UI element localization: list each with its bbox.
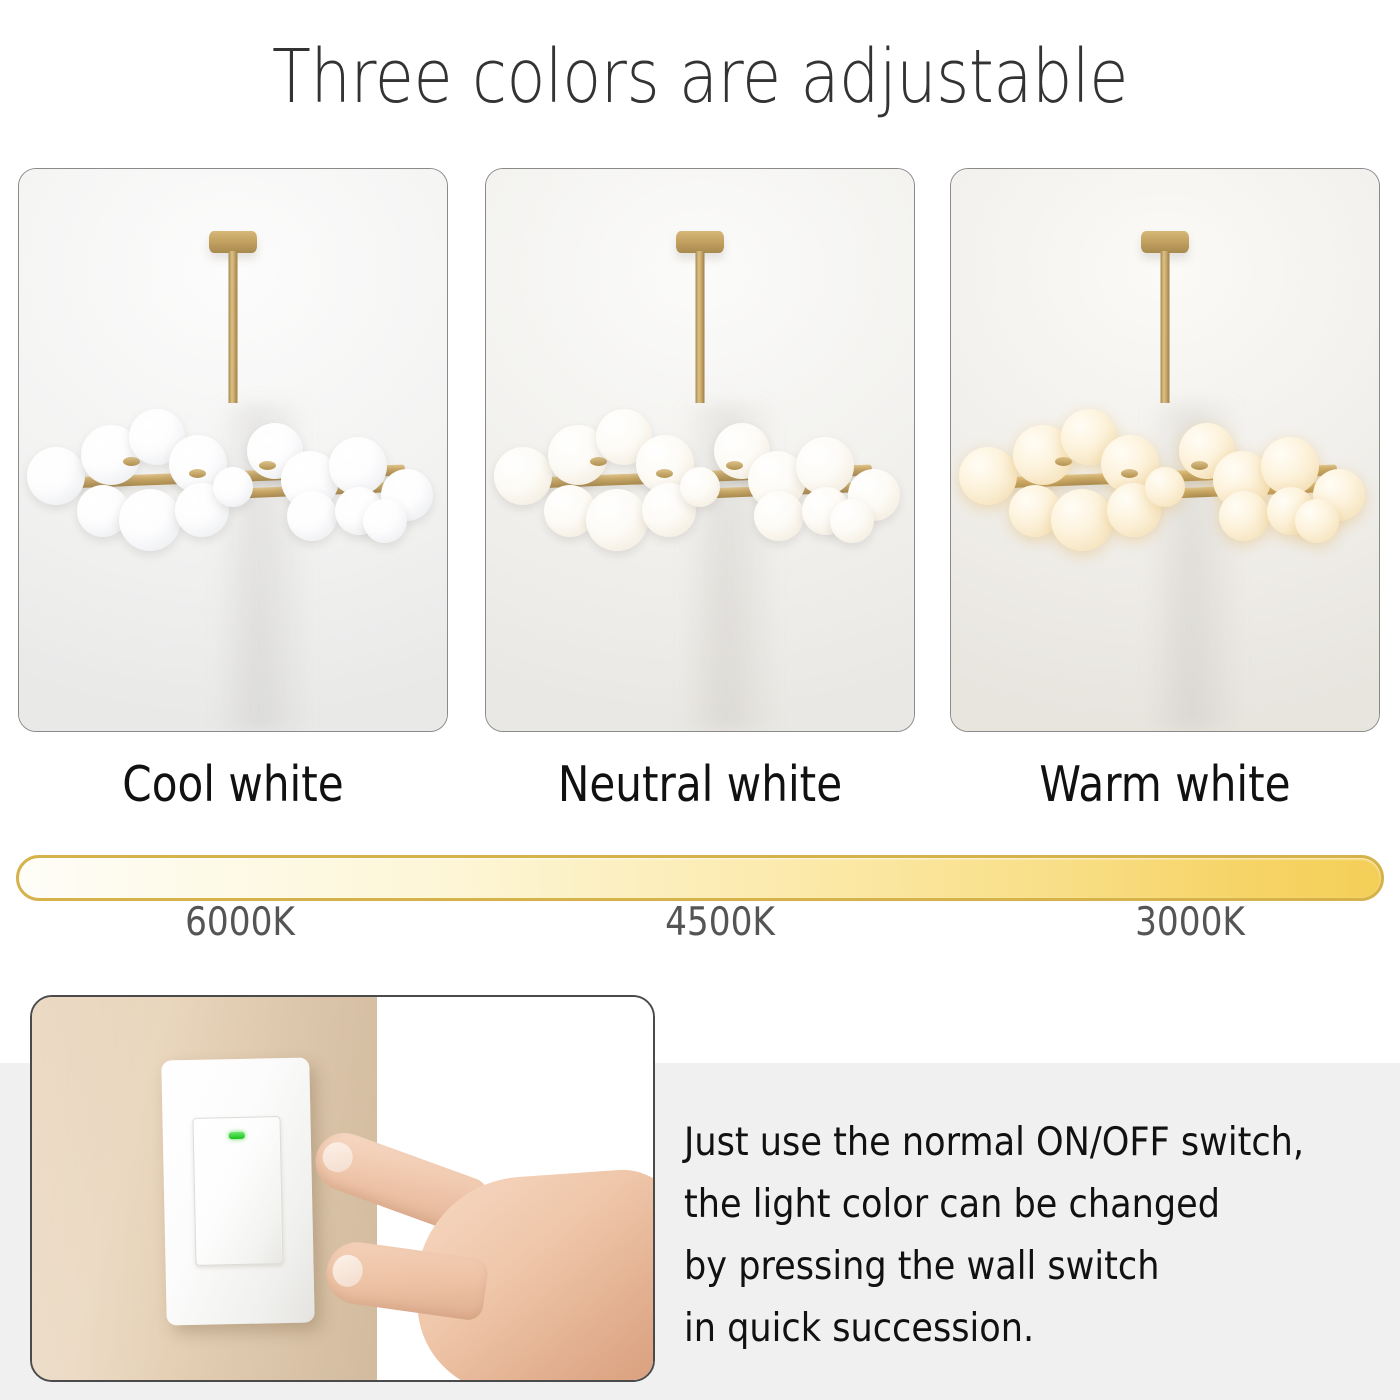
- light-globe: [586, 489, 648, 551]
- instruction-line-4: in quick succession.: [684, 1298, 1314, 1360]
- color-mode-gallery: [0, 168, 1400, 732]
- pointing-hand: [304, 1145, 655, 1382]
- thumbnail: [331, 1253, 365, 1289]
- globe-knob: [189, 469, 206, 478]
- light-globe: [494, 447, 552, 505]
- instruction-line-3: by pressing the wall switch: [684, 1236, 1314, 1298]
- color-mode-card-cool-white[interactable]: [18, 168, 448, 732]
- light-globe: [287, 491, 337, 541]
- light-globe: [959, 447, 1017, 505]
- globe-knob: [656, 469, 673, 478]
- color-label-neutral-white: Neutral white: [515, 756, 885, 813]
- fingernail: [318, 1138, 356, 1176]
- light-globe: [1051, 489, 1113, 551]
- light-globe: [1219, 491, 1269, 541]
- color-label-cool-white: Cool white: [48, 756, 418, 813]
- instruction-line-1: Just use the normal ON/OFF switch,: [684, 1112, 1314, 1174]
- color-label-warm-white: Warm white: [980, 756, 1350, 813]
- light-globe: [119, 489, 181, 551]
- light-globe: [830, 499, 874, 543]
- downrod: [229, 251, 238, 403]
- ceiling-canopy-icon: [209, 231, 257, 253]
- globe-knob: [1121, 469, 1138, 478]
- color-mode-card-warm-white[interactable]: [950, 168, 1380, 732]
- globe-knob: [590, 457, 607, 466]
- color-temperature-bar[interactable]: [16, 855, 1384, 901]
- wall-switch-photo-card[interactable]: [30, 995, 655, 1382]
- kelvin-tick-6000k: 6000K: [134, 900, 345, 945]
- instruction-text: Just use the normal ON/OFF switch, the l…: [684, 1112, 1384, 1360]
- globe-knob: [1191, 461, 1208, 470]
- rocker-switch[interactable]: [192, 1116, 283, 1266]
- instruction-line-2: the light color can be changed: [684, 1174, 1314, 1236]
- kelvin-tick-4500k: 4500K: [614, 900, 825, 945]
- downrod: [1161, 251, 1170, 403]
- globe-knob: [726, 461, 743, 470]
- light-globe: [27, 447, 85, 505]
- kelvin-tick-3000k: 3000K: [1084, 900, 1295, 945]
- ceiling-canopy-icon: [1141, 231, 1189, 253]
- switch-wall-plate[interactable]: [161, 1057, 315, 1325]
- globe-knob: [1055, 457, 1072, 466]
- light-globe: [213, 467, 253, 507]
- page-title: Three colors are adjustable: [98, 34, 1302, 120]
- light-globe: [680, 467, 720, 507]
- ceiling-canopy-icon: [676, 231, 724, 253]
- downrod: [696, 251, 705, 403]
- infographic-page: Three colors are adjustable: [0, 0, 1400, 1400]
- light-globe: [754, 491, 804, 541]
- light-globe: [363, 499, 407, 543]
- color-mode-labels: Cool white Neutral white Warm white: [0, 756, 1400, 826]
- globe-knob: [123, 457, 140, 466]
- light-globe: [1295, 499, 1339, 543]
- led-indicator-icon: [229, 1132, 245, 1139]
- color-mode-card-neutral-white[interactable]: [485, 168, 915, 732]
- globe-knob: [259, 461, 276, 470]
- light-globe: [1145, 467, 1185, 507]
